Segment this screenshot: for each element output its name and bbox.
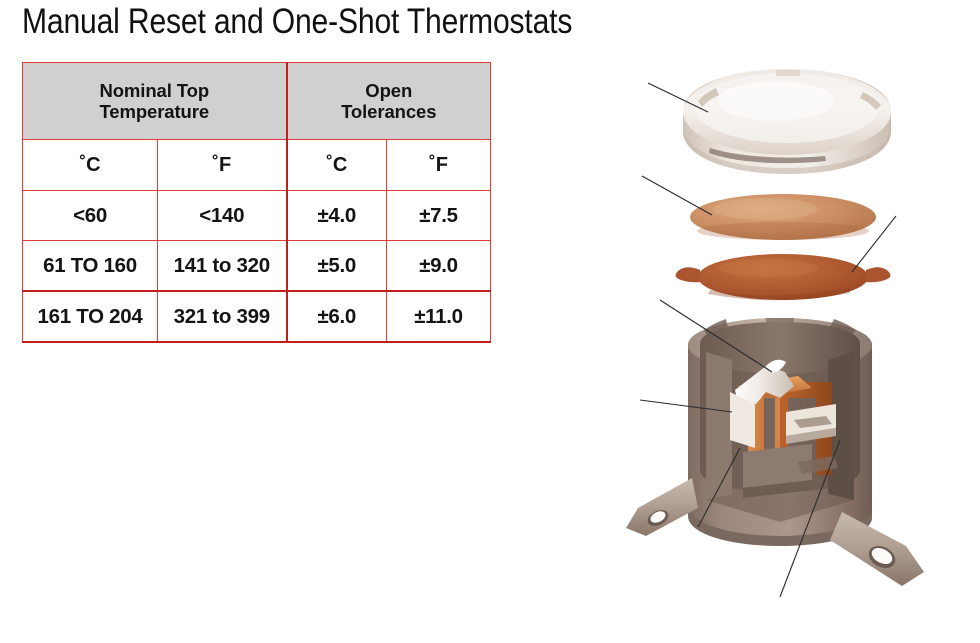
thermostat-tolerance-table: Nominal Top Temperature Open Tolerances … [22, 62, 491, 343]
header-open-tolerances: Open Tolerances [287, 63, 491, 140]
unit-header-fahrenheit-tolerance: ˚F [387, 140, 491, 191]
table-row: <60 <140 ±4.0 ±7.5 [23, 191, 491, 241]
table-group-header-row: Nominal Top Temperature Open Tolerances [23, 63, 491, 140]
table-row: 61 TO 160 141 to 320 ±5.0 ±9.0 [23, 241, 491, 292]
cell-nominal-c: 61 TO 160 [23, 241, 158, 292]
cell-nominal-c: <60 [23, 191, 158, 241]
cell-tolerance-f: ±9.0 [387, 241, 491, 292]
unit-header-celsius-tolerance: ˚C [287, 140, 387, 191]
table-unit-header-row: ˚C ˚F ˚C ˚F [23, 140, 491, 191]
cell-tolerance-f: ±11.0 [387, 291, 491, 342]
header-nominal-top-temperature: Nominal Top Temperature [23, 63, 287, 140]
unit-header-celsius-nominal: ˚C [23, 140, 158, 191]
thermostat-illustration-svg [580, 0, 980, 643]
unit-header-fahrenheit-nominal: ˚F [158, 140, 287, 191]
cup-part [683, 69, 891, 174]
bimetallic-disc-part [690, 194, 876, 240]
cell-tolerance-f: ±7.5 [387, 191, 491, 241]
exploded-thermostat-diagram: CUP BIMETALLIC DISC KAPTON INSULATOR MOV… [580, 0, 980, 643]
cell-tolerance-c: ±5.0 [287, 241, 387, 292]
leader-bimetallic [642, 176, 712, 215]
cell-nominal-f: 321 to 399 [158, 291, 287, 342]
page-title: Manual Reset and One-Shot Thermostats [22, 2, 572, 42]
cell-tolerance-c: ±4.0 [287, 191, 387, 241]
cell-nominal-f: <140 [158, 191, 287, 241]
kapton-insulator-part [676, 254, 891, 300]
cell-nominal-c: 161 TO 204 [23, 291, 158, 342]
cell-tolerance-c: ±6.0 [287, 291, 387, 342]
cell-nominal-f: 141 to 320 [158, 241, 287, 292]
thermoplastic-base-part [626, 318, 924, 586]
table-row: 161 TO 204 321 to 399 ±6.0 ±11.0 [23, 291, 491, 342]
